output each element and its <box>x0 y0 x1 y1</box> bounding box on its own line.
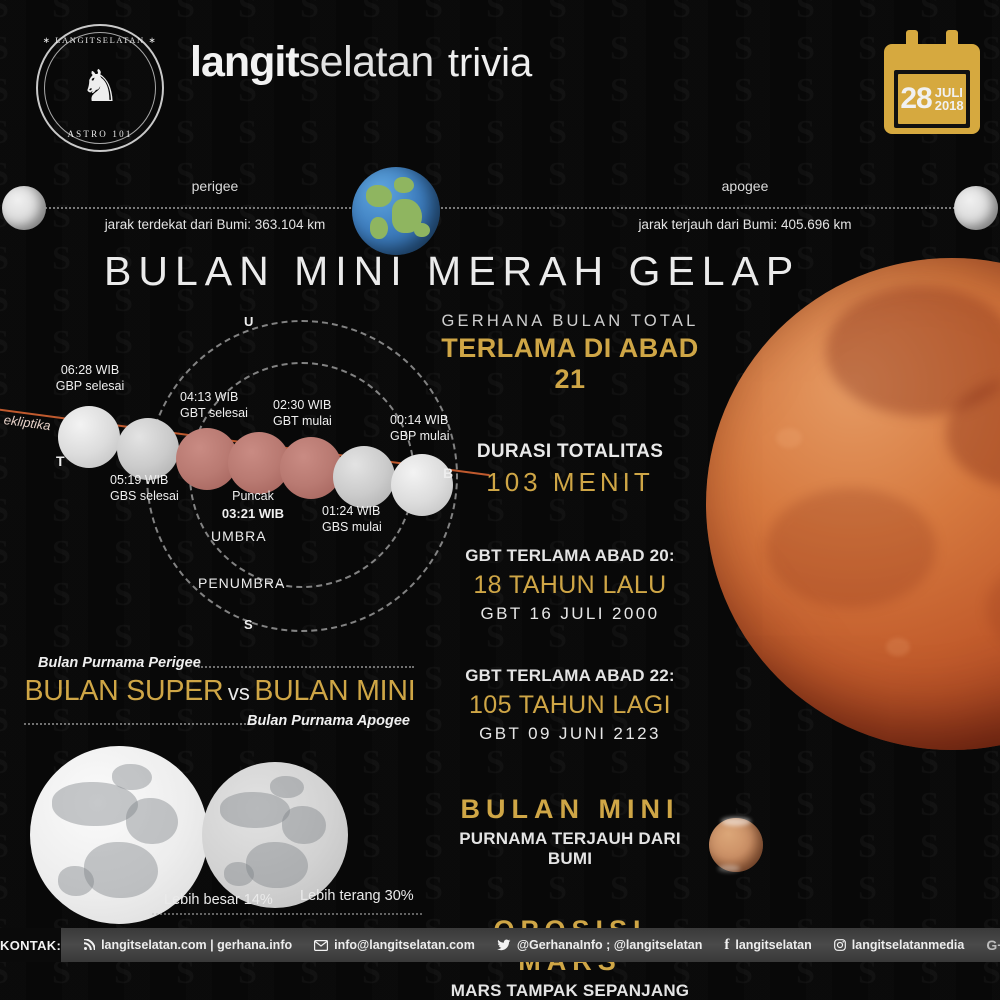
marker-west: T <box>56 453 66 469</box>
century-20-label: GBT TERLAMA ABAD 20: <box>436 546 704 566</box>
phase-event-2: GBS selesai <box>110 488 179 504</box>
eclipse-headline: TERLAMA DI ABAD 21 <box>436 333 704 395</box>
penumbra-label: PENUMBRA <box>198 575 285 591</box>
facebook-icon: f <box>724 937 729 954</box>
comparison-title-mini: BULAN MINI <box>254 675 415 707</box>
marker-north: U <box>244 314 254 329</box>
century-20-value: 18 TAHUN LALU <box>436 571 704 600</box>
comparison-bottom-caption-row: Bulan Purnama Apogee <box>20 711 420 733</box>
envelope-icon <box>314 940 328 951</box>
footer-website-text: langitselatan.com | gerhana.info <box>101 938 292 952</box>
brand-title: langitselatantrivia <box>190 38 532 87</box>
brand-trivia: trivia <box>448 41 532 85</box>
bigger-label: Lebih besar 14% <box>164 892 273 908</box>
footer-item-email[interactable]: info@langitselatan.com <box>314 938 475 952</box>
perigee-label: perigee <box>90 178 340 194</box>
footer-item-twitter[interactable]: @GerhanaInfo ; @langitselatan <box>497 938 703 952</box>
century-20-block: GBT TERLAMA ABAD 20: 18 TAHUN LALU GBT 1… <box>436 546 704 624</box>
orbit-dotted-line <box>18 207 982 209</box>
header: ∗ LANGITSELATAN ∗ ♞ ASTRO 101 langitsela… <box>0 0 1000 152</box>
footer-item-instagram[interactable]: langitselatanmedia <box>834 938 965 952</box>
minimoon-subtitle: PURNAMA TERJAUH DARI BUMI <box>436 829 704 869</box>
apogee-distance: jarak terjauh dari Bumi: 405.696 km <box>545 217 945 232</box>
phase-label-gbt-selesai: 04:13 WIB GBT selesai <box>180 389 248 422</box>
minimoon-block: BULAN MINI PURNAMA TERJAUH DARI BUMI <box>436 794 704 869</box>
diagram-moon-2 <box>117 418 179 480</box>
brand-selatan: selatan <box>299 38 434 86</box>
comparison-bottom-dotted-line <box>24 723 254 725</box>
super-vs-mini-heading: Bulan Purnama Perigee BULAN SUPER vs BUL… <box>20 655 420 733</box>
footer-contact-bar: KONTAK: langitselatan.com | gerhana.info… <box>0 928 1000 962</box>
footer-twitter-text: @GerhanaInfo ; @langitselatan <box>517 938 703 952</box>
mars-planet-icon <box>709 818 763 872</box>
apogee-label: apogee <box>620 178 870 194</box>
comparison-label-dotted-line <box>152 913 422 915</box>
earth-globe-icon <box>352 167 440 255</box>
calendar-body: 28 JULI 2018 <box>884 44 980 134</box>
century-22-date: GBT 09 JUNI 2123 <box>436 724 704 744</box>
phase-time-5: 01:24 WIB <box>322 503 382 519</box>
footer-item-website[interactable]: langitselatan.com | gerhana.info <box>83 938 292 952</box>
phase-event-5: GBS mulai <box>322 519 382 535</box>
minimoon-disc <box>202 762 348 908</box>
diagram-moon-6 <box>333 446 395 508</box>
peak-label-group: Puncak 03:21 WIB <box>198 488 308 523</box>
horse-rider-emblem-icon: ♞ <box>80 65 119 109</box>
peak-label: Puncak <box>198 488 308 504</box>
mars-subtitle: MARS TAMPAK SEPANJANG MALAM <box>436 981 704 1000</box>
diagram-moon-1 <box>58 406 120 468</box>
logo-top-text: ∗ LANGITSELATAN ∗ <box>38 35 162 46</box>
footer-item-facebook[interactable]: f langitselatan <box>724 937 811 954</box>
phase-event-1: GBP selesai <box>35 378 145 394</box>
century-20-date: GBT 16 JULI 2000 <box>436 604 704 624</box>
century-22-value: 105 TAHUN LAGI <box>436 691 704 720</box>
comparison-title-row: BULAN SUPER vs BULAN MINI <box>20 675 420 711</box>
perigee-distance: jarak terdekat dari Bumi: 363.104 km <box>40 217 390 232</box>
calendar-month-year: JULI 2018 <box>935 86 964 113</box>
footer-instagram-text: langitselatanmedia <box>852 938 965 952</box>
footer-email-text: info@langitselatan.com <box>334 938 475 952</box>
phase-label-gbs-mulai: 01:24 WIB GBS mulai <box>322 503 382 536</box>
marker-south: S <box>244 617 254 632</box>
comparison-bottom-caption: Bulan Purnama Apogee <box>247 713 410 729</box>
footer-kontak-label: KONTAK: <box>0 928 61 962</box>
comparison-top-dotted-line <box>198 666 414 668</box>
century-22-block: GBT TERLAMA ABAD 22: 105 TAHUN LAGI GBT … <box>436 666 704 744</box>
calendar-month: JULI <box>935 86 964 99</box>
footer-item-googleplus[interactable]: G+ LangitselatanMedia <box>986 937 1000 953</box>
twitter-icon <box>497 939 511 951</box>
rss-icon <box>83 939 95 951</box>
logo-bottom-text: ASTRO 101 <box>38 129 162 139</box>
calendar-year: 2018 <box>935 99 964 112</box>
calendar-day: 28 <box>900 84 931 114</box>
instagram-icon <box>834 939 846 951</box>
orbit-distance-band: perigee jarak terdekat dari Bumi: 363.10… <box>0 160 1000 256</box>
brand-langit: langit <box>190 38 299 86</box>
phase-time-4: 02:30 WIB <box>273 397 332 413</box>
phase-time-2: 05:19 WIB <box>110 472 179 488</box>
calendar-screen: 28 JULI 2018 <box>894 70 970 128</box>
phase-label-gbs-selesai: 05:19 WIB GBS selesai <box>110 472 179 505</box>
infographic-root: SSSSSSSSSSSSSSSSSSSSSSSSSSSSSSSSSSSSSSSS… <box>0 0 1000 1000</box>
comparison-top-caption-row: Bulan Purnama Perigee <box>20 655 420 675</box>
page-title: BULAN MINI MERAH GELAP <box>104 248 800 295</box>
phase-label-gbt-mulai: 02:30 WIB GBT mulai <box>273 397 332 430</box>
century-22-label: GBT TERLAMA ABAD 22: <box>436 666 704 686</box>
comparison-title-super: BULAN SUPER <box>25 675 224 707</box>
eclipse-path-diagram: ekliptika U S T B 06:28 WIB GBP selesai … <box>0 300 480 650</box>
calendar-icon: 28 JULI 2018 <box>884 30 980 134</box>
minimoon-title: BULAN MINI <box>436 794 704 825</box>
comparison-top-caption: Bulan Purnama Perigee <box>38 655 201 671</box>
mars-north-cap <box>721 817 751 826</box>
phase-label-gbp-selesai: 06:28 WIB GBP selesai <box>35 362 145 395</box>
comparison-title-vs: vs <box>228 680 250 705</box>
eclipse-headline-block: GERHANA BULAN TOTAL TERLAMA DI ABAD 21 <box>436 312 704 395</box>
duration-value: 103 MENIT <box>436 467 704 498</box>
moon-icon-apogee <box>954 186 998 230</box>
langitselatan-logo: ∗ LANGITSELATAN ∗ ♞ ASTRO 101 <box>36 24 164 152</box>
calendar-face: 28 JULI 2018 <box>898 74 966 124</box>
googleplus-icon: G+ <box>986 937 1000 953</box>
eclipse-kicker: GERHANA BULAN TOTAL <box>436 312 704 331</box>
phase-time-3: 04:13 WIB <box>180 389 248 405</box>
stats-column: GERHANA BULAN TOTAL TERLAMA DI ABAD 21 D… <box>436 312 704 1000</box>
brighter-label: Lebih terang 30% <box>300 888 414 904</box>
phase-event-4: GBT mulai <box>273 413 332 429</box>
mars-south-cap <box>718 865 740 872</box>
phase-event-3: GBT selesai <box>180 405 248 421</box>
umbra-label: UMBRA <box>211 528 267 544</box>
footer-facebook-text: langitselatan <box>735 938 811 952</box>
peak-time: 03:21 WIB <box>198 506 308 523</box>
phase-time-1: 06:28 WIB <box>35 362 145 378</box>
duration-block: DURASI TOTALITAS 103 MENIT <box>436 441 704 498</box>
duration-label: DURASI TOTALITAS <box>436 441 704 463</box>
